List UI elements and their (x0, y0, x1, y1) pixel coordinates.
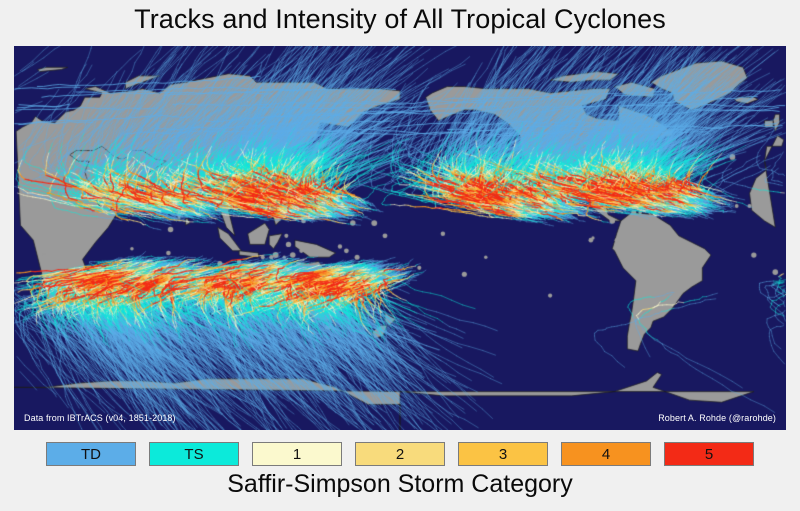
legend-swatch-category-3[interactable]: 3 (458, 442, 548, 466)
legend-label: 4 (602, 447, 610, 462)
legend-label: 1 (293, 447, 301, 462)
legend-swatch-category-2[interactable]: 2 (355, 442, 445, 466)
legend-swatch-tropical-depression[interactable]: TD (46, 442, 136, 466)
cyclone-tracks-figure: Tracks and Intensity of All Tropical Cyc… (0, 0, 800, 511)
data-source-note: Data from IBTrACS (v04, 1851-2018) (24, 413, 176, 423)
legend-label: 3 (499, 447, 507, 462)
world-map-panel: Data from IBTrACS (v04, 1851-2018) Rober… (14, 46, 786, 430)
storm-category-legend: TDTS12345 (14, 440, 786, 468)
page-title: Tracks and Intensity of All Tropical Cyc… (0, 4, 800, 35)
legend-swatch-tropical-storm[interactable]: TS (149, 442, 239, 466)
legend-caption: Saffir-Simpson Storm Category (0, 470, 800, 499)
legend-swatch-category-1[interactable]: 1 (252, 442, 342, 466)
legend-label: TD (81, 447, 101, 462)
cyclone-track-map (14, 46, 786, 430)
author-credit-note: Robert A. Rohde (@rarohde) (658, 413, 776, 423)
legend-swatch-category-5[interactable]: 5 (664, 442, 754, 466)
legend-label: 2 (396, 447, 404, 462)
legend-label: TS (184, 447, 203, 462)
legend-label: 5 (705, 447, 713, 462)
legend-swatch-category-4[interactable]: 4 (561, 442, 651, 466)
